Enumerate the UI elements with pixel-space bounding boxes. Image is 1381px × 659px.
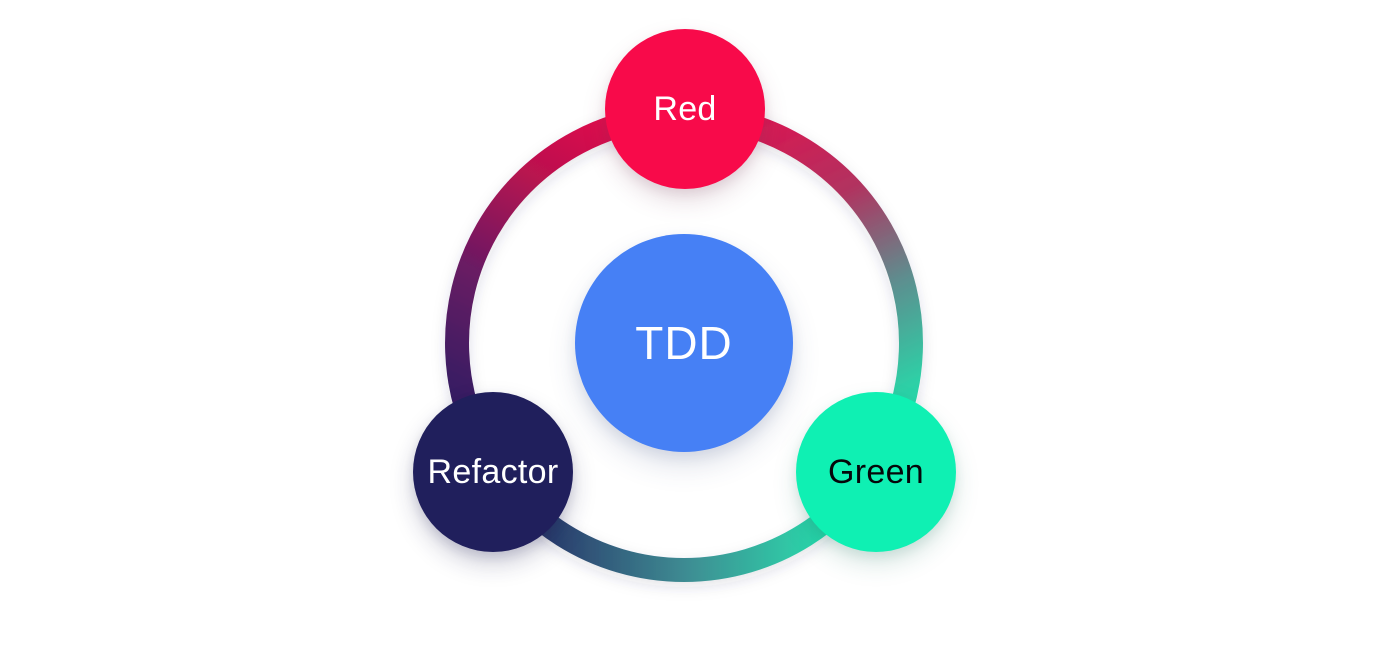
node-center-label: TDD — [635, 320, 733, 366]
node-green-label: Green — [828, 455, 924, 489]
node-center-tdd[interactable]: TDD — [575, 234, 793, 452]
node-refactor-label: Refactor — [428, 455, 559, 489]
node-refactor[interactable]: Refactor — [413, 392, 573, 552]
tdd-cycle-diagram: Red Green Refactor TDD — [0, 0, 1381, 659]
node-red-label: Red — [653, 92, 716, 126]
node-red[interactable]: Red — [605, 29, 765, 189]
node-green[interactable]: Green — [796, 392, 956, 552]
